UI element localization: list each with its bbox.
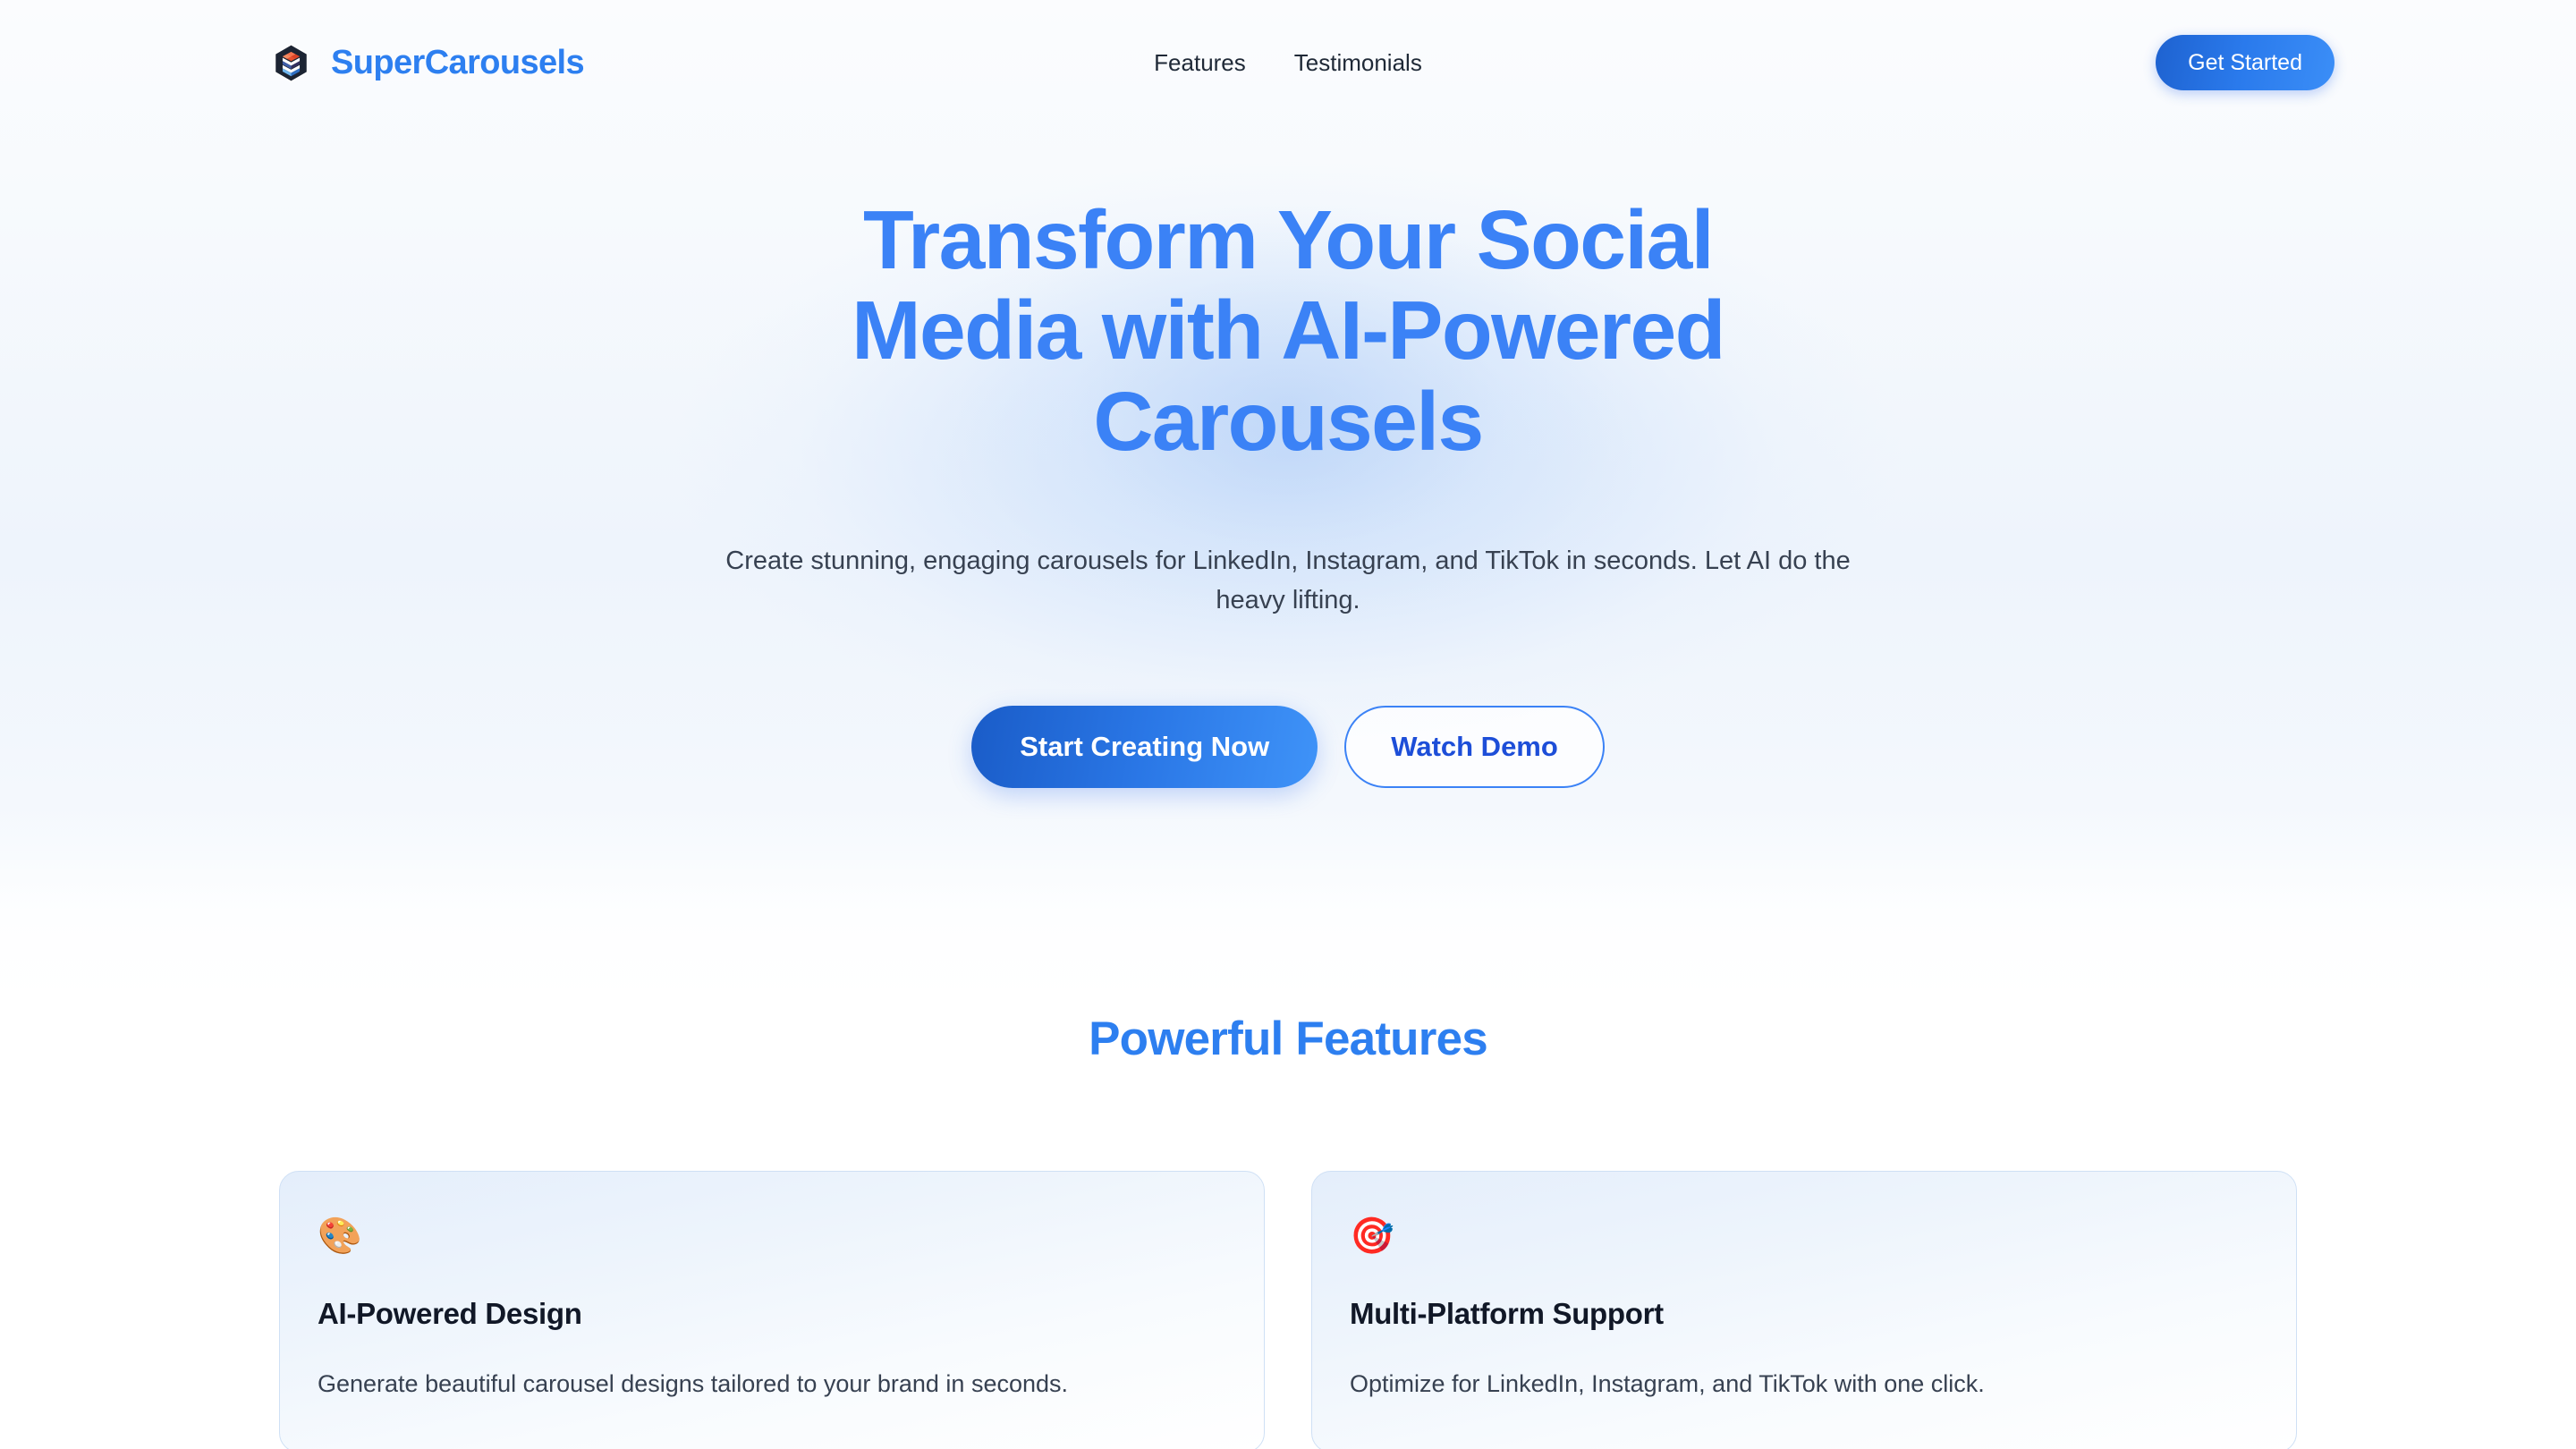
feature-card-title: Multi-Platform Support [1350,1297,2258,1331]
artist-palette-icon: 🎨 [318,1218,1226,1259]
start-creating-now-button[interactable]: Start Creating Now [971,706,1318,788]
feature-card-description: Optimize for LinkedIn, Instagram, and Ti… [1350,1367,2258,1402]
hero-cta-group: Start Creating Now Watch Demo [0,706,2576,788]
hero-title-line-2: Media with AI-Powered [716,285,1860,376]
feature-card-description: Generate beautiful carousel designs tail… [318,1367,1226,1402]
nav-item-features[interactable]: Features [1154,49,1246,77]
hero-title-line-1: Transform Your Social [716,195,1860,285]
features-section: Powerful Features 🎨 AI-Powered Design Ge… [0,1012,2576,1449]
hero-title: Transform Your Social Media with AI-Powe… [716,195,1860,467]
direct-hit-target-icon: 🎯 [1350,1218,2258,1259]
hero-section: Transform Your Social Media with AI-Powe… [0,125,2576,788]
nav-item-testimonials[interactable]: Testimonials [1294,49,1422,77]
brand-name: SuperCarousels [331,44,584,82]
landing-page: SuperCarousels Features Testimonials Get… [0,0,2576,1449]
features-heading: Powerful Features [0,1012,2576,1066]
brand-logo-link[interactable]: SuperCarousels [270,42,584,84]
feature-card-grid: 🎨 AI-Powered Design Generate beautiful c… [279,1171,2297,1449]
hero-subtitle: Create stunning, engaging carousels for … [707,542,1869,620]
primary-nav: Features Testimonials [1154,49,1422,77]
watch-demo-button[interactable]: Watch Demo [1344,706,1605,788]
hero-title-line-3: Carousels [716,377,1860,467]
feature-card-ai-powered-design[interactable]: 🎨 AI-Powered Design Generate beautiful c… [279,1171,1265,1449]
get-started-button[interactable]: Get Started [2156,35,2334,90]
site-header: SuperCarousels Features Testimonials Get… [0,0,2576,125]
feature-card-multi-platform-support[interactable]: 🎯 Multi-Platform Support Optimize for Li… [1311,1171,2297,1449]
feature-card-title: AI-Powered Design [318,1297,1226,1331]
stacked-cube-hexagon-logo-icon [270,42,312,84]
